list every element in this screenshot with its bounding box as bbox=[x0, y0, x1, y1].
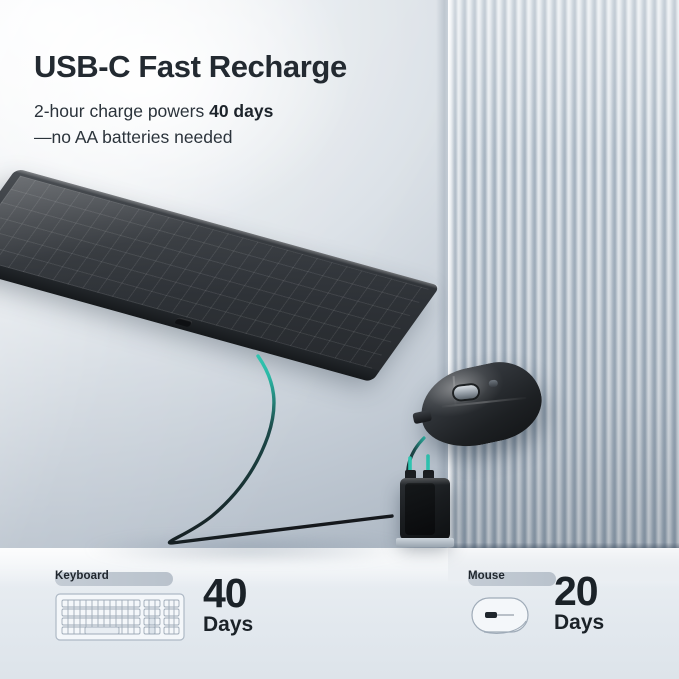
stat-keyboard: Keyboard bbox=[55, 570, 253, 641]
stat-keyboard-unit: Days bbox=[203, 613, 253, 636]
usb-c-charger-brick bbox=[400, 478, 450, 540]
charger-front-face bbox=[405, 483, 435, 535]
keyboard-cable-path bbox=[169, 356, 392, 543]
battery-life-stats: Keyboard bbox=[0, 570, 679, 658]
stat-keyboard-label-row: Keyboard bbox=[55, 570, 185, 589]
charger-stand bbox=[396, 538, 454, 547]
stat-mouse-value: 20 bbox=[554, 573, 604, 611]
stat-keyboard-icon-col: Keyboard bbox=[55, 570, 185, 641]
stat-mouse-unit: Days bbox=[554, 611, 604, 634]
stat-mouse-icon-col: Mouse bbox=[468, 570, 536, 637]
stat-keyboard-label: Keyboard bbox=[55, 570, 109, 582]
stat-mouse: Mouse 20 Days bbox=[468, 570, 604, 637]
stat-keyboard-value-col: 40 Days bbox=[203, 575, 253, 637]
stat-mouse-label-row: Mouse bbox=[468, 570, 536, 589]
stat-mouse-label: Mouse bbox=[468, 570, 505, 582]
charger-highlight bbox=[400, 478, 450, 485]
product-marketing-image: USB-C Fast Recharge 2-hour charge powers… bbox=[0, 0, 679, 679]
stat-mouse-value-col: 20 Days bbox=[554, 573, 604, 635]
mouse-icon bbox=[468, 593, 536, 637]
stat-keyboard-value: 40 bbox=[203, 575, 253, 613]
keyboard-icon bbox=[55, 593, 185, 641]
